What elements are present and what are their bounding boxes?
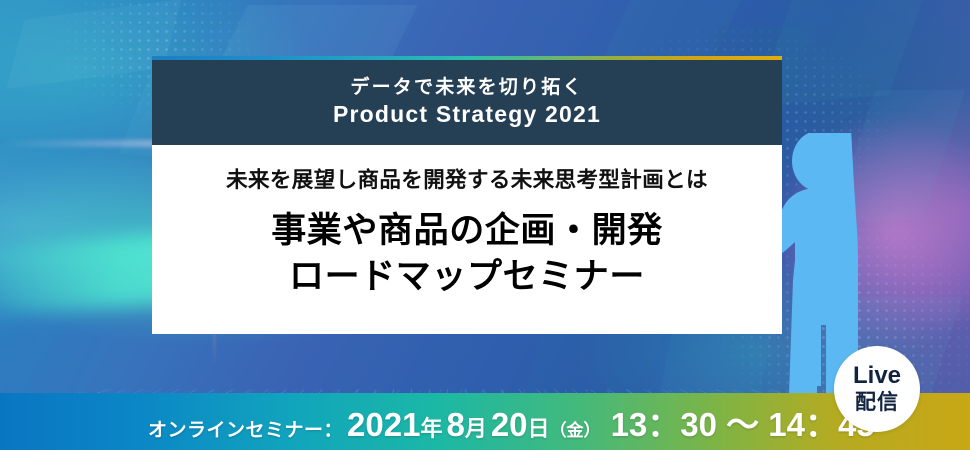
seminar-banner: データで未来を切り拓く Product Strategy 2021 未来を展望し… <box>0 0 970 450</box>
lead-text: 未来を展望し商品を開発する未来思考型計画とは <box>226 168 708 194</box>
header-tagline-jp: データで未来を切り拓く <box>350 78 583 99</box>
card-header: データで未来を切り拓く Product Strategy 2021 <box>152 60 782 145</box>
schedule-day: 20 <box>491 406 528 444</box>
live-badge-en: Live <box>853 364 901 388</box>
schedule-month-unit: 月 <box>465 411 487 443</box>
seminar-title-line2: ロードマップセミナー <box>271 254 663 301</box>
live-broadcast-badge-icon: Live 配信 <box>834 346 920 432</box>
content-card: データで未来を切り拓く Product Strategy 2021 未来を展望し… <box>152 56 782 334</box>
schedule-day-of-week: （金） <box>550 416 601 441</box>
schedule-month: 8 <box>446 406 464 444</box>
live-badge-jp: 配信 <box>855 391 899 414</box>
seminar-title-line1: 事業や商品の企画・開発 <box>271 208 663 255</box>
schedule-year: 2021 <box>347 406 420 444</box>
schedule-text: オンラインセミナー： 2021 年 8 月 20 日 （金） 13：30 〜 1… <box>148 398 875 446</box>
schedule-year-unit: 年 <box>420 411 442 443</box>
card-body: 未来を展望し商品を開発する未来思考型計画とは 事業や商品の企画・開発 ロードマッ… <box>152 145 782 334</box>
header-tagline-en: Product Strategy 2021 <box>333 102 601 127</box>
schedule-label: オンラインセミナー： <box>148 415 343 442</box>
schedule-bar: オンラインセミナー： 2021 年 8 月 20 日 （金） 13：30 〜 1… <box>0 393 970 450</box>
schedule-day-unit: 日 <box>528 411 550 443</box>
seminar-title: 事業や商品の企画・開発 ロードマップセミナー <box>271 208 663 301</box>
schedule-time: 13：30 〜 14：45 <box>611 398 875 446</box>
